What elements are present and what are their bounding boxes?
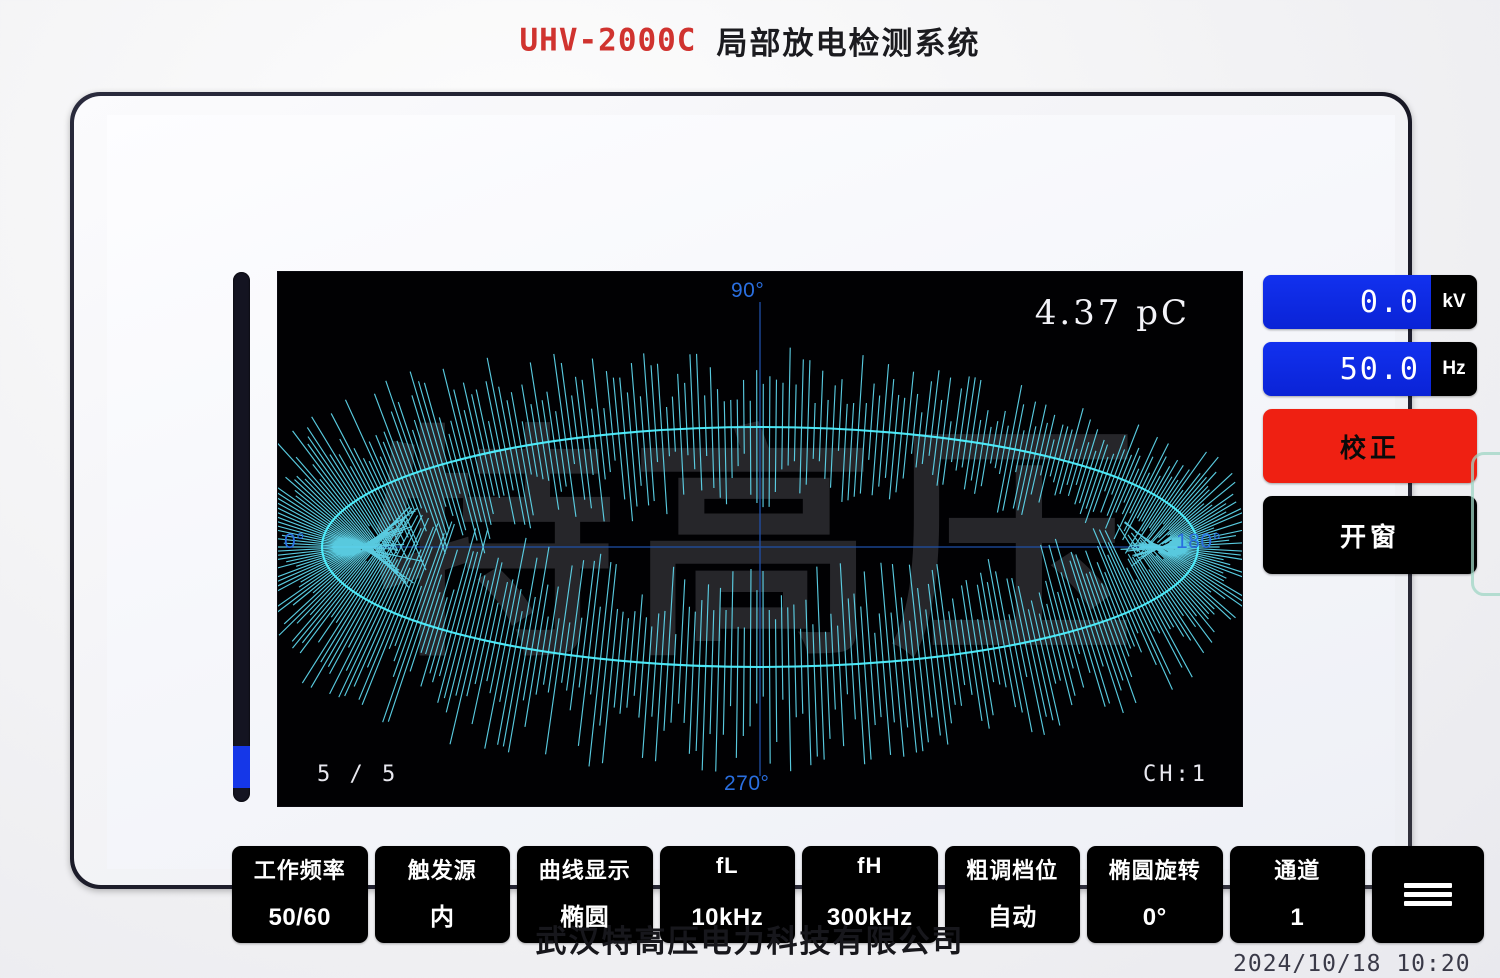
frequency-value: 50.0 bbox=[1263, 342, 1431, 396]
open-window-button[interactable]: 开窗 bbox=[1263, 496, 1477, 574]
axis-label-270: 270° bbox=[724, 772, 769, 796]
hamburger-bar bbox=[1404, 901, 1452, 906]
discharge-value: 4.37 pC bbox=[1035, 293, 1190, 333]
hamburger-bar bbox=[1404, 892, 1452, 897]
gain-slider-thumb[interactable] bbox=[233, 746, 250, 788]
toolbar-button-label: fH bbox=[857, 853, 882, 879]
frequency-unit: Hz bbox=[1431, 342, 1477, 396]
edge-accessory-card bbox=[1471, 452, 1500, 596]
calibrate-button[interactable]: 校正 bbox=[1263, 409, 1477, 483]
axis-label-90: 90° bbox=[731, 279, 764, 303]
side-control-panel: 0.0 kV 50.0 Hz 校正 开窗 bbox=[1263, 275, 1477, 587]
toolbar-button-label: fL bbox=[716, 853, 739, 879]
axis-label-0: 0° bbox=[284, 530, 305, 554]
toolbar-button-label: 工作频率 bbox=[254, 853, 346, 885]
toolbar-button-label: 通道 bbox=[1274, 853, 1320, 885]
page-title: UHV-2000C局部放电检测系统 bbox=[0, 18, 1500, 70]
voltage-value: 0.0 bbox=[1263, 275, 1431, 329]
toolbar-button-label: 曲线显示 bbox=[539, 853, 631, 885]
company-footer: 武汉特高压电力科技有限公司 bbox=[0, 916, 1500, 961]
voltage-readout[interactable]: 0.0 kV bbox=[1263, 275, 1477, 329]
product-title: 局部放电检测系统 bbox=[716, 26, 980, 61]
product-model: UHV-2000C bbox=[520, 23, 697, 59]
channel-indicator: CH:1 bbox=[1143, 762, 1208, 787]
toolbar-button-label: 粗调档位 bbox=[966, 853, 1058, 885]
prpd-plot-area[interactable]: 特高压 90° 270° 0° 180° 4.37 pC 5 / 5 CH:1 bbox=[278, 272, 1242, 806]
voltage-unit: kV bbox=[1431, 275, 1477, 329]
plot-axes bbox=[322, 302, 1198, 776]
axis-label-180: 180° bbox=[1176, 530, 1221, 554]
gain-slider[interactable] bbox=[233, 272, 250, 802]
device-screen: 特高压 90° 270° 0° 180° 4.37 pC 5 / 5 CH:1 … bbox=[107, 115, 1395, 869]
prpd-plot-svg bbox=[278, 272, 1242, 806]
toolbar-button-label: 椭圆旋转 bbox=[1109, 853, 1201, 885]
toolbar-button-label: 触发源 bbox=[408, 853, 477, 885]
frequency-readout[interactable]: 50.0 Hz bbox=[1263, 342, 1477, 396]
hamburger-bar bbox=[1404, 883, 1452, 888]
frame-counter: 5 / 5 bbox=[317, 762, 398, 787]
